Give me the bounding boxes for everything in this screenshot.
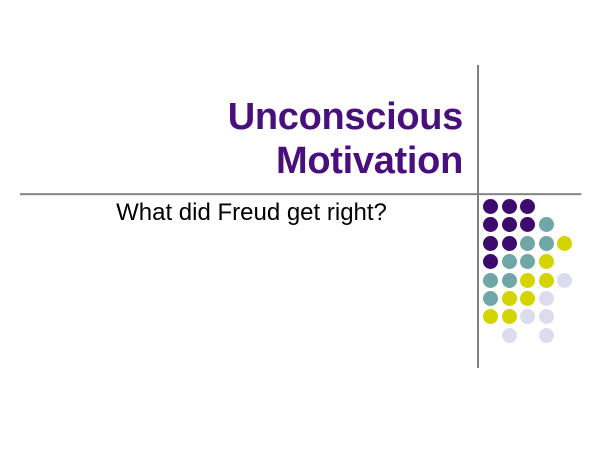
- grid-dot-lavender: [557, 273, 572, 288]
- slide-title-line-2: Motivation: [40, 139, 463, 183]
- grid-dot-purple: [520, 199, 535, 214]
- grid-dot-yellow: [539, 254, 554, 269]
- grid-dot-purple: [520, 217, 535, 232]
- slide-canvas: Unconscious Motivation What did Freud ge…: [0, 0, 600, 450]
- grid-dot-teal: [483, 273, 498, 288]
- dot-grid-decoration: [483, 199, 587, 345]
- grid-dot-teal: [502, 254, 517, 269]
- grid-dot-yellow: [502, 309, 517, 324]
- grid-dot-yellow: [520, 273, 535, 288]
- horizontal-divider-rule: [20, 193, 582, 196]
- grid-dot-teal: [539, 236, 554, 251]
- grid-dot-teal: [539, 217, 554, 232]
- grid-dot-purple: [502, 217, 517, 232]
- grid-dot-purple: [483, 199, 498, 214]
- grid-dot-lavender: [520, 309, 535, 324]
- slide-title: Unconscious Motivation: [40, 95, 463, 183]
- grid-dot-purple: [502, 199, 517, 214]
- grid-dot-purple: [483, 236, 498, 251]
- grid-dot-teal: [520, 254, 535, 269]
- slide-subtitle: What did Freud get right?: [40, 199, 463, 227]
- grid-dot-lavender: [539, 309, 554, 324]
- grid-dot-yellow: [520, 291, 535, 306]
- grid-dot-purple: [483, 254, 498, 269]
- slide-title-line-1: Unconscious: [40, 95, 463, 139]
- grid-dot-lavender: [539, 291, 554, 306]
- grid-dot-teal: [483, 291, 498, 306]
- grid-dot-purple: [502, 236, 517, 251]
- grid-dot-yellow: [483, 309, 498, 324]
- grid-dot-yellow: [502, 291, 517, 306]
- grid-dot-lavender: [539, 328, 554, 343]
- vertical-divider-rule: [477, 65, 479, 368]
- grid-dot-lavender: [502, 328, 517, 343]
- grid-dot-teal: [502, 273, 517, 288]
- grid-dot-yellow: [557, 236, 572, 251]
- grid-dot-yellow: [539, 273, 554, 288]
- grid-dot-teal: [520, 236, 535, 251]
- grid-dot-purple: [483, 217, 498, 232]
